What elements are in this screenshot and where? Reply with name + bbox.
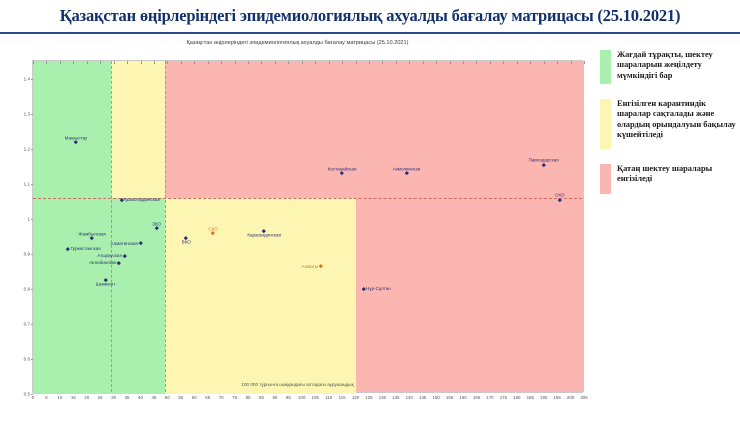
data-point-marker	[74, 140, 78, 144]
zone-green-lower	[33, 198, 165, 394]
data-point: Жамбылская	[91, 237, 94, 240]
data-point: Карагандинская	[263, 230, 266, 233]
x-tick-label: 205	[575, 395, 593, 400]
x-tick-mark	[544, 61, 545, 64]
y-tick-label: 1.3	[17, 111, 30, 116]
x-tick-mark	[476, 61, 477, 64]
x-tick-mark	[248, 61, 249, 64]
x-tick-mark	[490, 61, 491, 64]
x-tick-mark	[302, 61, 303, 64]
data-point-label: Карагандинская	[247, 233, 281, 238]
data-point: Алматы	[319, 265, 322, 268]
y-tick-mark	[31, 79, 34, 80]
y-tick-mark	[31, 114, 34, 115]
data-point-label: Павлодарская	[529, 158, 559, 163]
x-tick-mark	[530, 61, 531, 64]
data-point-label: Маңғыстау	[65, 135, 88, 140]
x-tick-mark	[571, 61, 572, 64]
zone-yellow-lower	[165, 198, 356, 394]
x-tick-mark	[423, 61, 424, 64]
x-tick-mark	[100, 61, 101, 64]
x-tick-mark	[73, 61, 74, 64]
data-point: ВКО	[185, 237, 188, 240]
x-tick-mark	[261, 61, 262, 64]
data-point-label: СКО	[555, 193, 564, 198]
data-point-marker	[319, 264, 323, 268]
legend-item: Қатаң шектеу шаралары енгізіледі	[600, 164, 738, 194]
data-point-marker	[90, 236, 94, 240]
data-point-marker	[117, 261, 121, 265]
data-point-marker	[558, 198, 562, 202]
data-point-label: Костанайская	[328, 167, 357, 172]
page-title: Қазақстан өңірлеріндегі эпидемиологиялық…	[60, 6, 681, 26]
data-point-label: Туркестанская	[70, 246, 100, 251]
x-tick-mark	[329, 61, 330, 64]
x-tick-mark	[396, 61, 397, 64]
x-tick-mark	[114, 61, 115, 64]
chart-title: Қазақстан өңірлеріндегі эпидемиологиялық…	[0, 40, 595, 46]
x-tick-mark	[154, 61, 155, 64]
data-point: Атырауская	[123, 254, 126, 257]
x-tick-mark	[382, 61, 383, 64]
data-point: Костанайская	[341, 172, 344, 175]
legend-item: Жағдай тұрақты, шектеу шараларын жеңілде…	[600, 50, 738, 84]
legend: Жағдай тұрақты, шектеу шараларын жеңілде…	[600, 50, 738, 209]
legend-swatch	[600, 164, 611, 194]
data-point-label: ВКО	[182, 240, 191, 245]
data-point-label: Қызылординская	[124, 197, 160, 202]
x-tick-mark	[503, 61, 504, 64]
y-tick-label: 0.7	[17, 321, 30, 326]
y-tick-mark	[31, 219, 34, 220]
y-tick-label: 0.8	[17, 286, 30, 291]
data-point-marker	[340, 171, 344, 175]
data-point: Маңғыстау	[75, 140, 78, 143]
legend-item: Енгізілген карантиндік шаралар сақталады…	[600, 99, 738, 149]
data-point: Қызылординская	[120, 198, 123, 201]
x-tick-mark	[127, 61, 128, 64]
x-tick-mark	[208, 61, 209, 64]
x-axis-label: 100 000 тұрғынға шаққандағы аптадағы аур…	[0, 382, 595, 387]
x-tick-mark	[87, 61, 88, 64]
data-point-label: СКО	[208, 226, 217, 231]
data-point-marker	[211, 231, 215, 235]
data-point-marker	[120, 198, 124, 202]
x-tick-mark	[342, 61, 343, 64]
data-point-label: Акмолинская	[393, 167, 420, 172]
x-tick-mark	[275, 61, 276, 64]
data-point: СКО	[212, 231, 215, 234]
x-tick-mark	[369, 61, 370, 64]
y-tick-label: 0.6	[17, 356, 30, 361]
y-tick-label: 1	[17, 216, 30, 221]
y-tick-mark	[31, 149, 34, 150]
x-tick-mark	[46, 61, 47, 64]
page-header: Қазақстан өңірлеріндегі эпидемиологиялық…	[0, 0, 740, 34]
data-point-marker	[405, 171, 409, 175]
data-point-marker	[362, 287, 366, 291]
scatter-plot: 1.41.31.21.110.90.80.70.60.5 05101520253…	[32, 60, 583, 393]
x-tick-mark	[194, 61, 195, 64]
y-tick-label: 1.4	[17, 76, 30, 81]
legend-label: Жағдай тұрақты, шектеу шараларын жеңілде…	[617, 50, 738, 84]
x-tick-mark	[517, 61, 518, 64]
x-tick-mark	[584, 61, 585, 64]
data-point-label: Жамбылская	[78, 232, 105, 237]
data-point: Алматинская	[139, 242, 142, 245]
data-point: Павлодарская	[542, 163, 545, 166]
data-point-marker	[66, 247, 70, 251]
data-point-marker	[123, 254, 127, 258]
x-tick-mark	[356, 61, 357, 64]
x-tick-mark	[315, 61, 316, 64]
data-point: Актюбинская	[118, 261, 121, 264]
x-tick-mark	[288, 61, 289, 64]
y-tick-mark	[31, 324, 34, 325]
y-tick-label: 1.2	[17, 146, 30, 151]
y-tick-label: 0.9	[17, 251, 30, 256]
zone-divider-green-yellow	[111, 61, 112, 392]
data-point-label: Актюбинская	[89, 260, 116, 265]
x-tick-mark	[463, 61, 464, 64]
y-tick-mark	[31, 359, 34, 360]
y-tick-label: 1.1	[17, 181, 30, 186]
data-point-marker	[542, 163, 546, 167]
legend-label: Енгізілген карантиндік шаралар сақталады…	[617, 99, 738, 149]
x-tick-mark	[436, 61, 437, 64]
data-point: Нұр-Сұлтан	[362, 287, 365, 290]
data-point-label: Алматы	[302, 264, 318, 269]
data-point: СКО	[558, 198, 561, 201]
y-tick-mark	[31, 254, 34, 255]
x-tick-mark	[235, 61, 236, 64]
x-tick-mark	[181, 61, 182, 64]
legend-swatch	[600, 50, 611, 84]
x-tick-mark	[221, 61, 222, 64]
data-point: ЗКО	[155, 226, 158, 229]
chart-area: Қазақстан өңірлеріндегі эпидемиологиялық…	[0, 34, 595, 421]
x-tick-mark	[33, 61, 34, 64]
x-tick-mark	[141, 61, 142, 64]
data-point-label: Алматинская	[111, 241, 138, 246]
legend-swatch	[600, 99, 611, 149]
data-point-marker	[155, 226, 159, 230]
y-tick-mark	[31, 184, 34, 185]
x-tick-mark	[409, 61, 410, 64]
x-tick-mark	[557, 61, 558, 64]
data-point: Акмолинская	[405, 172, 408, 175]
data-point: Туркестанская	[66, 247, 69, 250]
data-point-marker	[139, 241, 143, 245]
x-tick-mark	[450, 61, 451, 64]
data-point-label: Нұр-Сұлтан	[366, 286, 391, 291]
data-point: Шымкент	[104, 279, 107, 282]
data-point-label: Шымкент	[96, 282, 116, 287]
x-tick-mark	[167, 61, 168, 64]
data-point-label: Атырауская	[97, 253, 122, 258]
data-point-label: ЗКО	[152, 221, 161, 226]
y-tick-mark	[31, 289, 34, 290]
legend-label: Қатаң шектеу шаралары енгізіледі	[617, 164, 738, 194]
threshold-line	[33, 198, 582, 199]
x-tick-mark	[60, 61, 61, 64]
zone-divider-yellow-red	[165, 61, 166, 392]
